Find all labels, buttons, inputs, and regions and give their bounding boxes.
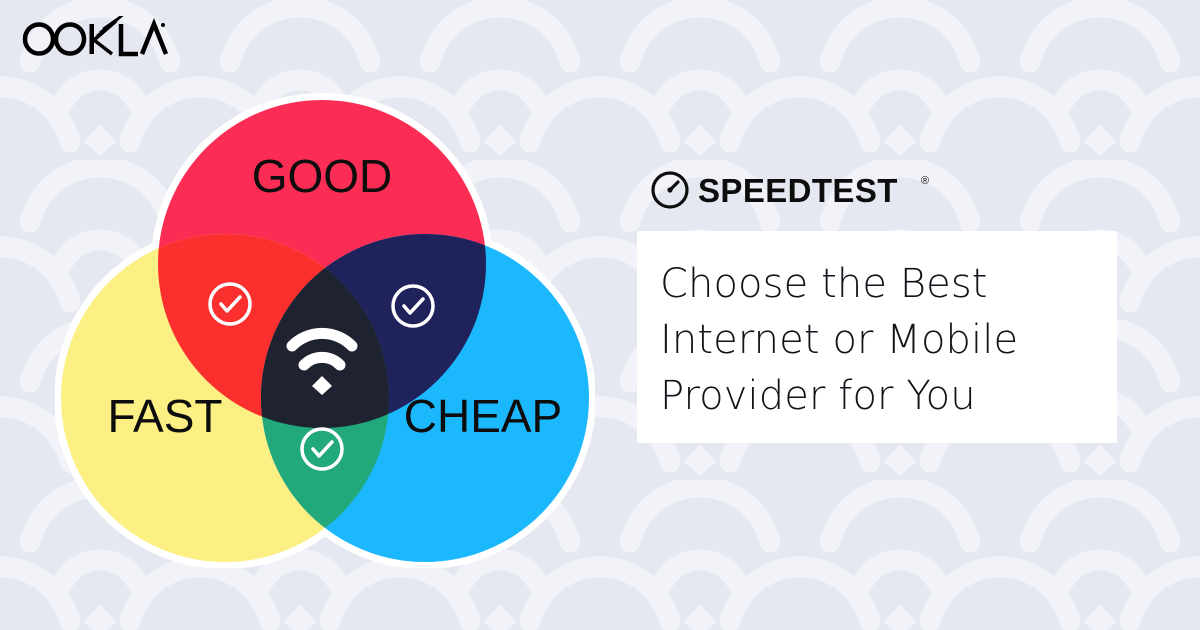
headline-card: Choose the Best Internet or Mobile Provi… [637, 231, 1117, 443]
ookla-logo[interactable] [18, 16, 168, 62]
speedtest-trademark: ® [921, 175, 929, 187]
speedometer-icon [653, 173, 687, 207]
right-column: SPEEDTEST ® [637, 168, 1127, 212]
venn-label-cheap: CHEAP [404, 390, 562, 442]
headline-line-2: Internet or Mobile [660, 312, 1117, 368]
venn-label-fast: FAST [107, 390, 222, 442]
venn-diagram: GOOD FAST CHEAP [55, 68, 595, 568]
speedtest-wordmark: SPEEDTEST [698, 172, 898, 209]
headline-line-1: Choose the Best [660, 256, 1117, 312]
venn-label-good: GOOD [252, 150, 393, 202]
speedtest-logo[interactable]: SPEEDTEST ® [648, 168, 938, 212]
headline-line-3: Provider for You [660, 368, 1117, 424]
social-share-card: GOOD FAST CHEAP [0, 0, 1200, 630]
